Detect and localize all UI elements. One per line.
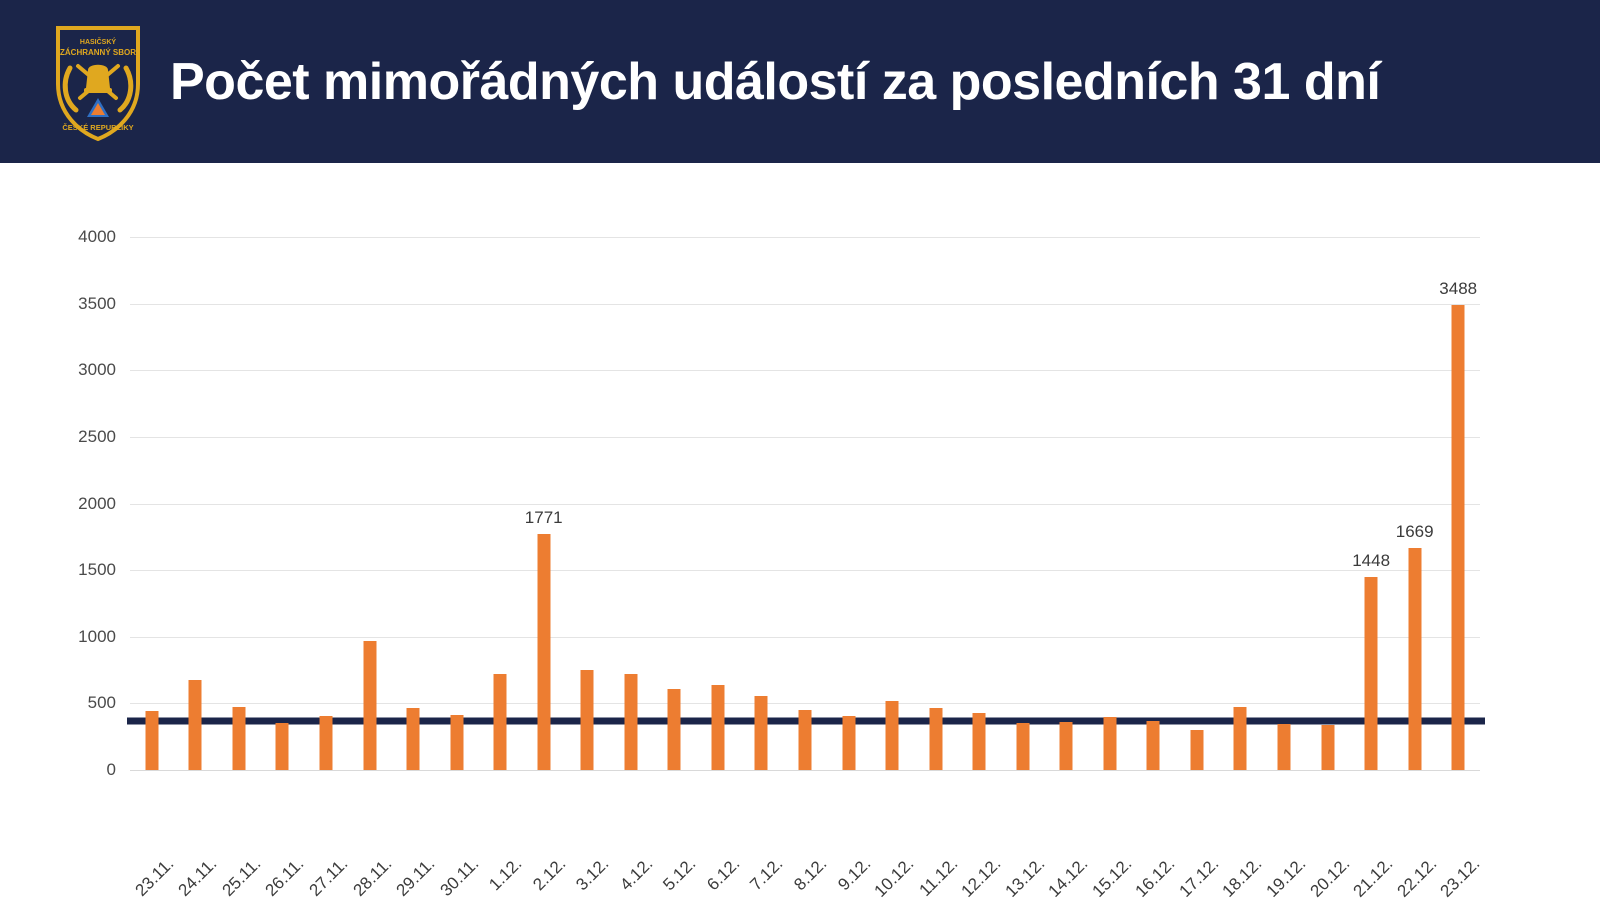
czech-fire-rescue-service-emblem-icon: HASIČSKÝ ZÁCHRANNÝ SBOR ČESKÉ REPUBLIKY: [50, 22, 146, 142]
bar-value-label: 1448: [1352, 551, 1390, 571]
x-axis-tick-label: 13.12.: [1001, 854, 1049, 902]
x-axis-tick-label: 3.12.: [573, 854, 614, 895]
y-axis-tick-label: 2000: [0, 494, 116, 514]
bar[interactable]: [363, 641, 376, 770]
bar[interactable]: [624, 674, 637, 770]
gridline: [130, 504, 1480, 505]
bar[interactable]: [799, 710, 812, 770]
bar[interactable]: [755, 696, 768, 770]
bar[interactable]: [494, 674, 507, 770]
bar-value-label: 1771: [525, 508, 563, 528]
x-axis-tick-label: 12.12.: [958, 854, 1006, 902]
bar[interactable]: [929, 708, 942, 770]
x-axis-tick-label: 23.12.: [1437, 854, 1485, 902]
bar[interactable]: [1103, 717, 1116, 770]
x-axis-tick-label: 26.11.: [262, 854, 309, 901]
x-axis-tick-label: 29.11.: [393, 854, 440, 901]
svg-text:HASIČSKÝ: HASIČSKÝ: [80, 37, 117, 46]
bar[interactable]: [668, 689, 681, 770]
x-axis-tick-label: 11.12.: [915, 854, 962, 901]
x-axis-tick-label: 21.12.: [1350, 854, 1398, 902]
x-axis-tick-label: 23.11.: [131, 854, 178, 901]
gridline: [130, 304, 1480, 305]
bar[interactable]: [1452, 305, 1465, 770]
bar[interactable]: [1321, 725, 1334, 770]
x-axis-tick-label: 10.12.: [871, 854, 919, 902]
bar-chart: 0500100015002000250030003500400023.11.24…: [0, 163, 1600, 900]
bar[interactable]: [276, 723, 289, 770]
y-axis-tick-label: 0: [0, 760, 116, 780]
bar[interactable]: [189, 680, 202, 770]
y-axis-tick-label: 4000: [0, 227, 116, 247]
gridline: [130, 703, 1480, 704]
bar[interactable]: [842, 716, 855, 770]
x-axis-tick-label: 8.12.: [790, 854, 831, 895]
x-axis-tick-label: 27.11.: [305, 854, 352, 901]
bar[interactable]: [145, 711, 158, 770]
gridline: [130, 437, 1480, 438]
bar[interactable]: [1234, 707, 1247, 770]
x-axis-tick-label: 2.12.: [529, 854, 570, 895]
y-axis-tick-label: 1000: [0, 627, 116, 647]
x-axis-tick-label: 18.12.: [1219, 854, 1267, 902]
x-axis-tick-label: 6.12.: [703, 854, 744, 895]
bar[interactable]: [450, 715, 463, 770]
gridline: [130, 570, 1480, 571]
page-title: Počet mimořádných událostí za posledních…: [170, 52, 1380, 112]
x-axis-tick-label: 24.11.: [175, 854, 222, 901]
x-axis-tick-label: 5.12.: [660, 854, 701, 895]
bar[interactable]: [711, 685, 724, 770]
bar[interactable]: [537, 534, 550, 770]
x-axis-tick-label: 25.11.: [218, 854, 265, 901]
x-axis-tick-label: 4.12.: [616, 854, 657, 895]
bar[interactable]: [1016, 723, 1029, 770]
x-axis-tick-label: 30.11.: [436, 854, 483, 901]
gridline: [130, 370, 1480, 371]
bar[interactable]: [1190, 730, 1203, 770]
x-axis-tick-label: 17.12.: [1176, 854, 1224, 902]
bar[interactable]: [581, 670, 594, 770]
x-axis-tick-label: 19.12.: [1263, 854, 1311, 902]
bar-value-label: 3488: [1439, 279, 1477, 299]
svg-text:ZÁCHRANNÝ SBOR: ZÁCHRANNÝ SBOR: [60, 48, 136, 57]
x-axis-tick-label: 9.12.: [834, 854, 875, 895]
bar[interactable]: [1365, 577, 1378, 770]
x-axis-tick-label: 15.12.: [1088, 854, 1136, 902]
y-axis-tick-label: 3500: [0, 294, 116, 314]
y-axis-tick-label: 1500: [0, 560, 116, 580]
plot-area: 0500100015002000250030003500400023.11.24…: [130, 237, 1480, 770]
gridline: [130, 770, 1480, 771]
bar[interactable]: [973, 713, 986, 770]
x-axis-tick-label: 20.12.: [1306, 854, 1354, 902]
x-axis-tick-label: 1.12.: [485, 854, 526, 895]
y-axis-tick-label: 500: [0, 693, 116, 713]
bar[interactable]: [1060, 722, 1073, 770]
x-axis-tick-label: 22.12.: [1393, 854, 1441, 902]
page-header: HASIČSKÝ ZÁCHRANNÝ SBOR ČESKÉ REPUBLIKY …: [0, 0, 1600, 163]
x-axis-tick-label: 7.12.: [747, 854, 788, 895]
bar[interactable]: [1147, 721, 1160, 770]
x-axis-tick-label: 16.12.: [1132, 854, 1180, 902]
bar[interactable]: [886, 701, 899, 770]
bar-value-label: 1669: [1396, 522, 1434, 542]
gridline: [130, 237, 1480, 238]
bar[interactable]: [1408, 548, 1421, 770]
x-axis-tick-label: 28.11.: [349, 854, 396, 901]
svg-text:ČESKÉ REPUBLIKY: ČESKÉ REPUBLIKY: [62, 123, 133, 132]
bar[interactable]: [232, 707, 245, 770]
gridline: [130, 637, 1480, 638]
bar[interactable]: [407, 708, 420, 770]
bar[interactable]: [1278, 724, 1291, 770]
y-axis-tick-label: 2500: [0, 427, 116, 447]
y-axis-tick-label: 3000: [0, 360, 116, 380]
bar[interactable]: [319, 716, 332, 770]
x-axis-tick-label: 14.12.: [1045, 854, 1093, 902]
